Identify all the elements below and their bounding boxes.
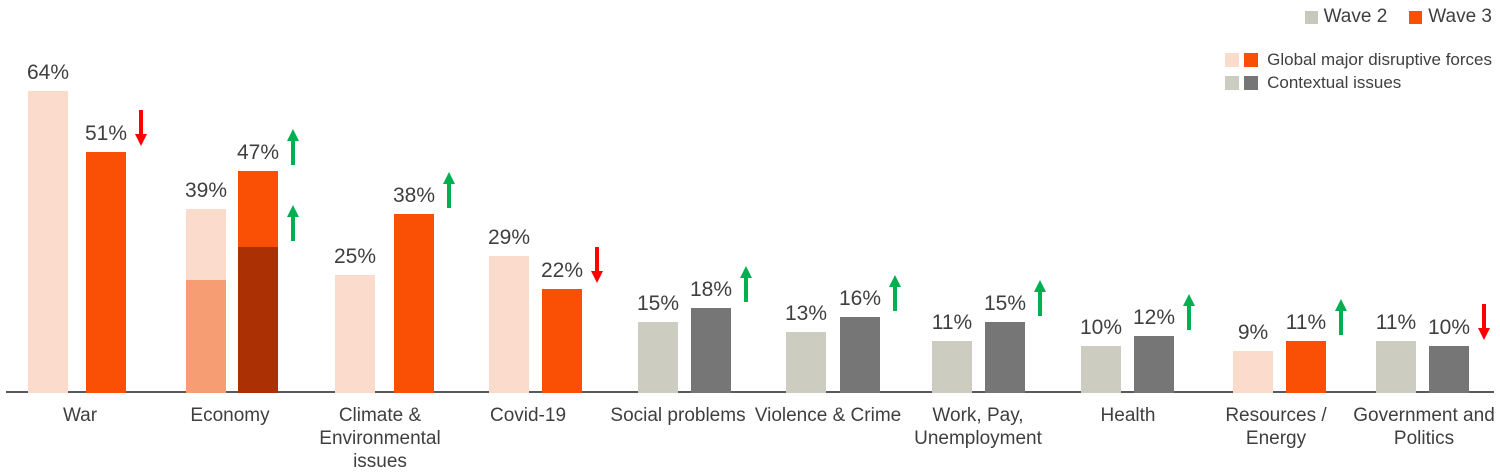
value-label-government-wave-3: 10% <box>1415 316 1483 340</box>
trend-up-arrow-icon <box>886 273 904 313</box>
category-axis-labels: WarEconomyClimate & Environmental issues… <box>0 404 1500 474</box>
category-label-economy: Economy <box>150 404 310 427</box>
bar-rect: Inflation 31% <box>238 171 278 393</box>
category-label-covid: Covid-19 <box>453 404 603 427</box>
bar-rect <box>86 152 126 393</box>
trend-up-arrow-icon <box>1332 297 1350 337</box>
bar-rect <box>1376 341 1416 393</box>
bar-rect <box>840 317 880 393</box>
bar-rect <box>1286 341 1326 393</box>
bar-war-wave-3[interactable]: 51% <box>86 2 126 393</box>
bar-rect <box>28 91 68 393</box>
bar-segment-label: Inflation 24% <box>186 280 226 393</box>
bar-rect <box>691 308 731 393</box>
value-label-health-wave-3: 12% <box>1120 306 1188 330</box>
value-label-resources-wave-3: 11% <box>1272 311 1340 335</box>
trend-up-arrow-icon <box>284 127 302 167</box>
bar-covid-wave-2[interactable]: 29% <box>489 2 529 393</box>
category-label-war: War <box>0 404 160 427</box>
value-label-climate-wave-2: 25% <box>321 245 389 269</box>
bar-segment-inflation[interactable]: Inflation 31% <box>238 247 278 393</box>
bar-violence-wave-2[interactable]: 13% <box>786 2 826 393</box>
bar-rect <box>1081 346 1121 393</box>
bar-climate-wave-2[interactable]: 25% <box>335 2 375 393</box>
bar-chart-plot-area: 64%51%Inflation 24%39%Inflation 31%47%25… <box>0 0 1500 393</box>
trend-down-arrow-icon <box>132 108 150 148</box>
category-label-violence: Violence & Crime <box>748 404 908 427</box>
trend-up-arrow-icon <box>1031 278 1049 318</box>
value-label-economy-wave-2: 39% <box>172 179 240 203</box>
bar-rect <box>489 256 529 393</box>
trend-up-arrow-icon <box>440 170 458 210</box>
category-label-climate: Climate & Environmental issues <box>300 404 460 473</box>
bar-rect <box>1233 351 1273 393</box>
bar-work-wave-2[interactable]: 11% <box>932 2 972 393</box>
bar-social-wave-3[interactable]: 18% <box>691 2 731 393</box>
bar-health-wave-2[interactable]: 10% <box>1081 2 1121 393</box>
bar-social-wave-2[interactable]: 15% <box>638 2 678 393</box>
bar-rect <box>1134 336 1174 393</box>
trend-down-arrow-icon <box>588 245 606 285</box>
bar-rect <box>786 332 826 393</box>
bar-resources-wave-2[interactable]: 9% <box>1233 2 1273 393</box>
bar-violence-wave-3[interactable]: 16% <box>840 2 880 393</box>
bar-rect <box>638 322 678 393</box>
value-label-economy-wave-3: 47% <box>224 141 292 165</box>
value-label-violence-wave-3: 16% <box>826 287 894 311</box>
bar-health-wave-3[interactable]: 12% <box>1134 2 1174 393</box>
bar-rect <box>932 341 972 393</box>
category-label-health: Health <box>1048 404 1208 427</box>
bar-rect: Inflation 24% <box>186 209 226 393</box>
bar-segment-label: Inflation 31% <box>238 247 278 393</box>
bar-covid-wave-3[interactable]: 22% <box>542 2 582 393</box>
category-label-government: Government and Politics <box>1344 404 1500 450</box>
value-label-social-wave-3: 18% <box>677 278 745 302</box>
trend-up-arrow-icon <box>737 264 755 304</box>
trend-up-arrow-icon <box>1180 292 1198 332</box>
bar-government-wave-3[interactable]: 10% <box>1429 2 1469 393</box>
trend-down-arrow-icon <box>1475 302 1493 342</box>
bar-rect <box>542 289 582 393</box>
bar-economy-wave-2[interactable]: Inflation 24%39% <box>186 2 226 393</box>
bar-rect <box>394 214 434 393</box>
bar-work-wave-3[interactable]: 15% <box>985 2 1025 393</box>
category-label-work: Work, Pay, Unemployment <box>898 404 1058 450</box>
bar-rect <box>985 322 1025 393</box>
bar-rect <box>1429 346 1469 393</box>
category-label-resources: Resources / Energy <box>1196 404 1356 450</box>
value-label-covid-wave-3: 22% <box>528 259 596 283</box>
bar-climate-wave-3[interactable]: 38% <box>394 2 434 393</box>
bar-war-wave-2[interactable]: 64% <box>28 2 68 393</box>
bar-economy-wave-3[interactable]: Inflation 31%47% <box>238 2 278 393</box>
value-label-climate-wave-3: 38% <box>380 184 448 208</box>
value-label-work-wave-3: 15% <box>971 292 1039 316</box>
bar-segment-inflation[interactable]: Inflation 24% <box>186 280 226 393</box>
bar-government-wave-2[interactable]: 11% <box>1376 2 1416 393</box>
value-label-war-wave-3: 51% <box>72 122 140 146</box>
bar-rect <box>335 275 375 393</box>
bar-resources-wave-3[interactable]: 11% <box>1286 2 1326 393</box>
value-label-covid-wave-2: 29% <box>475 226 543 250</box>
value-label-war-wave-2: 64% <box>14 61 82 85</box>
trend-up-arrow-inflation-icon <box>284 203 302 243</box>
category-label-social: Social problems <box>598 404 758 427</box>
